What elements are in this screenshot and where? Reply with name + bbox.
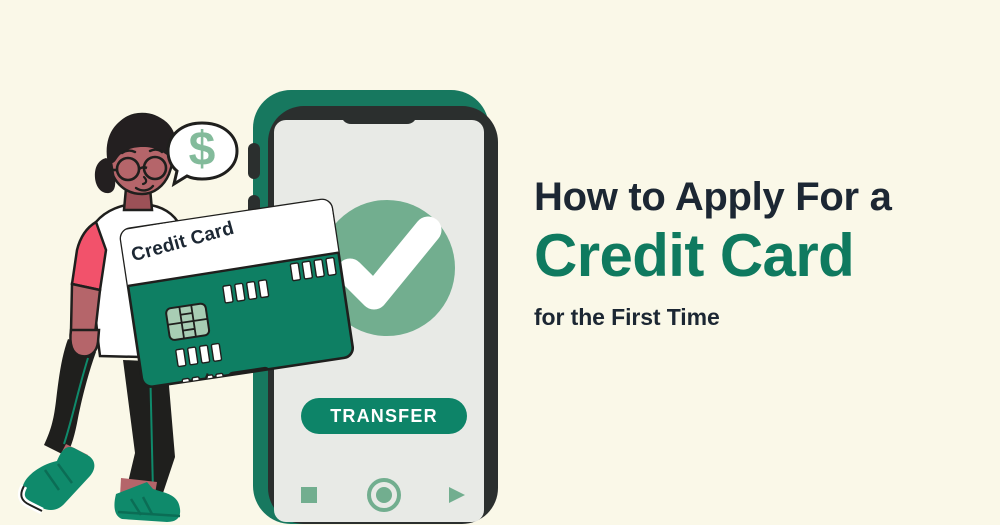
square-icon[interactable] <box>301 487 317 503</box>
dollar-sign-icon: $ <box>189 123 216 176</box>
headline-line-2: Credit Card <box>534 224 964 289</box>
headline-line-3: for the First Time <box>534 305 964 330</box>
headline-line-1: How to Apply For a <box>534 176 964 218</box>
chip-icon <box>165 303 209 341</box>
headline-block: How to Apply For a Credit Card for the F… <box>534 176 964 330</box>
phone-volume-button[interactable] <box>248 143 260 179</box>
hero-banner: $ <box>0 0 1000 525</box>
person-left-hand <box>70 330 99 356</box>
transfer-button[interactable]: TRANSFER <box>301 398 467 434</box>
